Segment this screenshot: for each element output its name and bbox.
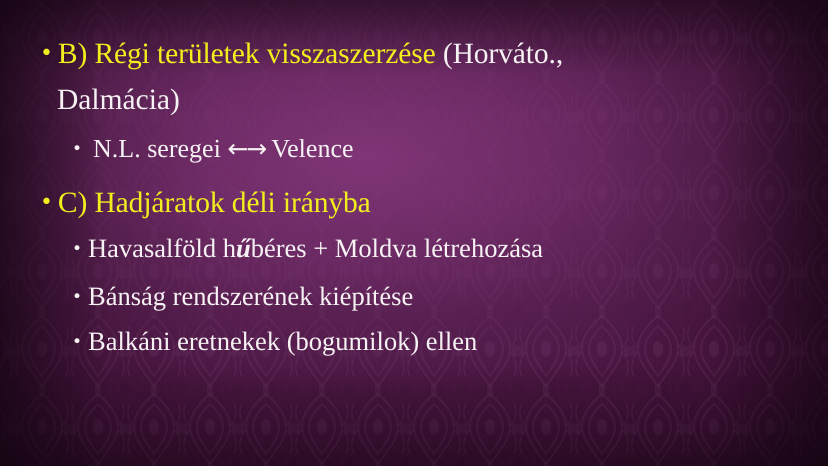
slide-body-text: • B) Régi területek visszaszerzése (Horv… <box>0 0 828 466</box>
bullet-glyph-icon: • <box>40 192 53 214</box>
bullet-text-bansag: Bánság rendszerének kiépítése <box>88 281 413 312</box>
bullet-text-nl-after: Velence <box>265 134 353 164</box>
presentation-slide: • B) Régi területek visszaszerzése (Horv… <box>0 0 828 466</box>
bullet-item-b-wrap: Dalmácia) <box>57 84 180 117</box>
bullet-text-havasalfold-2: béres + Moldva létrehozása <box>251 233 543 264</box>
bullet-item-bansag: • Bánság rendszerének kiépítése <box>72 281 413 312</box>
bullet-text-b-yellow: B) Régi területek visszaszerzése <box>58 38 443 71</box>
bullet-item-nl-seregei: • N.L. seregei ←→ Velence <box>72 134 354 164</box>
bullet-text-balkani: Balkáni eretnekek (bogumilok) ellen <box>88 326 477 357</box>
bullet-item-balkani: • Balkáni eretnekek (bogumilok) ellen <box>72 326 477 357</box>
bullet-item-havasalfold: • Havasalföld h ű béres + Moldva létreho… <box>72 233 543 264</box>
bullet-item-c-heading: • C) Hadjáratok déli irányba <box>40 187 371 220</box>
bullet-glyph-icon: • <box>72 289 82 306</box>
bullet-glyph-icon: • <box>72 141 82 158</box>
bullet-text-nl-before: N.L. seregei <box>93 134 227 164</box>
bullet-text-b-wrap: Dalmácia) <box>57 84 180 117</box>
bullet-item-b-heading: • B) Régi területek visszaszerzése (Horv… <box>40 38 563 71</box>
left-right-arrows-icon: ←→ <box>227 134 265 163</box>
bullet-glyph-icon: • <box>72 334 82 351</box>
bullet-glyph-icon: • <box>40 43 53 65</box>
bullet-glyph-icon: • <box>72 241 82 258</box>
bullet-text-havasalfold-1: Havasalföld h <box>88 233 236 264</box>
bullet-text-c-heading: C) Hadjáratok déli irányba <box>58 187 371 220</box>
bullet-text-havasalfold-glyph: ű <box>236 233 251 264</box>
bullet-text-b-white: (Horváto., <box>443 38 563 71</box>
